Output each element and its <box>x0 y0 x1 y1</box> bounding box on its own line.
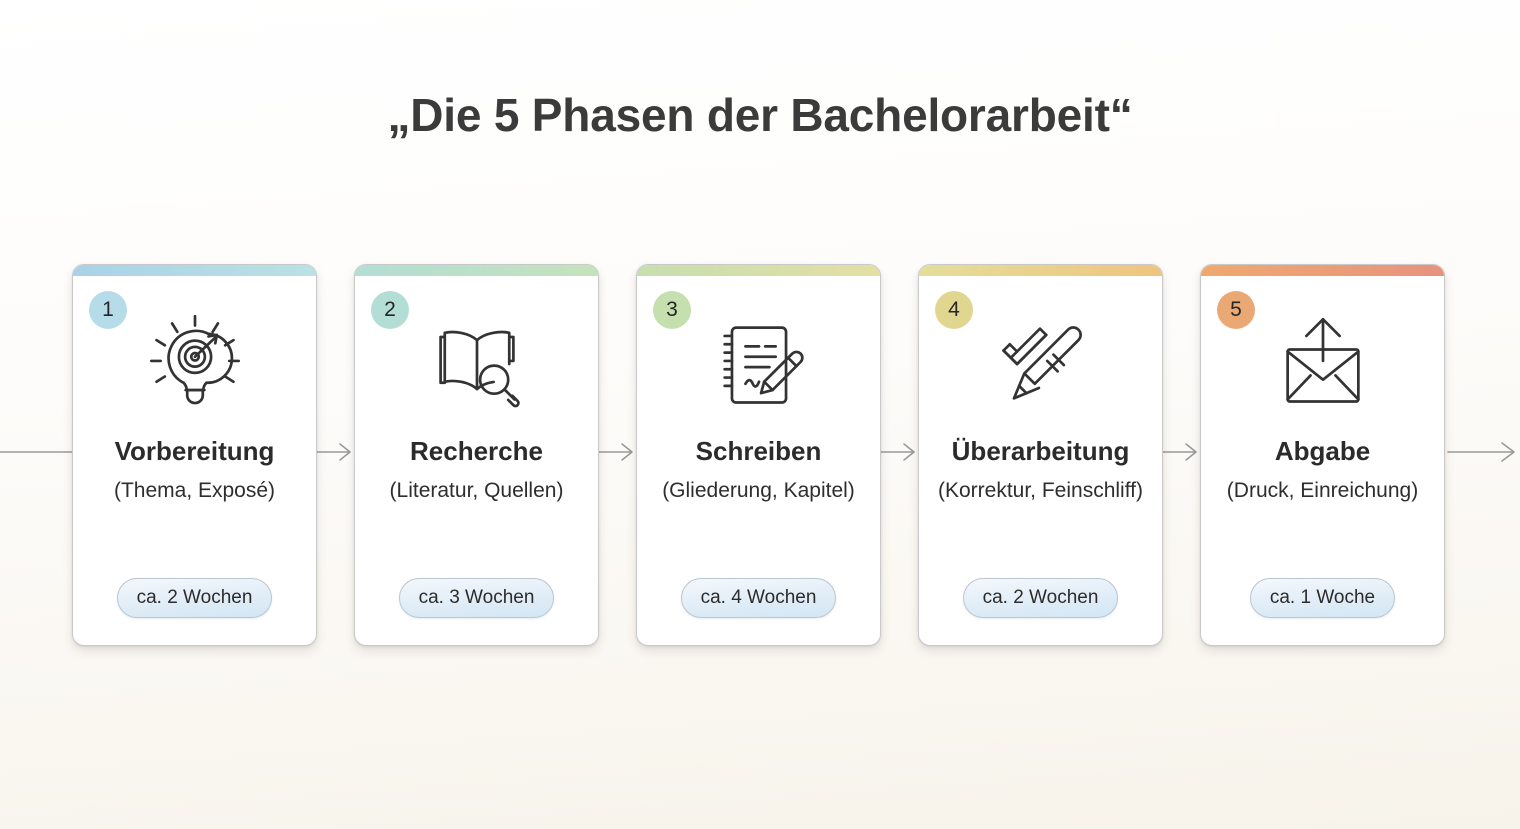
lightbulb-target-icon <box>140 311 250 415</box>
duration-badge-3: ca. 4 Wochen <box>681 578 837 618</box>
duration-wrapper-1: ca. 2 Wochen <box>117 578 273 618</box>
card-accent-bar-4 <box>919 265 1162 276</box>
envelope-upload-icon <box>1268 311 1378 415</box>
phase-card-3[interactable]: 3 Schreiben <box>636 264 881 646</box>
duration-badge-2: ca. 3 Wochen <box>399 578 555 618</box>
step-number-badge-1: 1 <box>89 291 127 329</box>
duration-wrapper-3: ca. 4 Wochen <box>681 578 837 618</box>
duration-wrapper-4: ca. 2 Wochen <box>963 578 1119 618</box>
phase-card-2[interactable]: 2 Recherche (Literatur, Quellen) <box>354 264 599 646</box>
step-number-label-3: 3 <box>666 298 678 322</box>
step-number-label-1: 1 <box>102 298 114 322</box>
card-accent-bar-1 <box>73 265 316 276</box>
duration-badge-4: ca. 2 Wochen <box>963 578 1119 618</box>
page-title: „Die 5 Phasen der Bachelorarbeit“ <box>0 88 1520 142</box>
book-magnifier-icon <box>422 311 532 415</box>
duration-wrapper-2: ca. 3 Wochen <box>399 578 555 618</box>
phase-subtitle-2: (Literatur, Quellen) <box>380 476 574 507</box>
duration-badge-5: ca. 1 Woche <box>1250 578 1395 618</box>
phase-title-3: Schreiben <box>690 437 828 466</box>
phase-subtitle-5: (Druck, Einreichung) <box>1217 476 1428 507</box>
phase-card-4[interactable]: 4 Überarbeitung (Korrektur, <box>918 264 1163 646</box>
duration-wrapper-5: ca. 1 Woche <box>1250 578 1395 618</box>
phase-title-5: Abgabe <box>1269 437 1376 466</box>
phase-subtitle-3: (Gliederung, Kapitel) <box>652 476 865 507</box>
step-number-badge-2: 2 <box>371 291 409 329</box>
pen-check-icon <box>986 311 1096 415</box>
step-number-label-2: 2 <box>384 298 396 322</box>
step-number-badge-5: 5 <box>1217 291 1255 329</box>
phase-title-2: Recherche <box>404 437 549 466</box>
phase-card-1[interactable]: 1 <box>72 264 317 646</box>
step-number-label-4: 4 <box>948 298 960 322</box>
step-number-label-5: 5 <box>1230 298 1242 322</box>
card-accent-bar-2 <box>355 265 598 276</box>
phase-card-5[interactable]: 5 Abgabe (Druck, Einreichung) ca. 1 Woch… <box>1200 264 1445 646</box>
phase-subtitle-4: (Korrektur, Feinschliff) <box>928 476 1153 507</box>
phase-title-1: Vorbereitung <box>109 437 281 466</box>
card-accent-bar-3 <box>637 265 880 276</box>
step-number-badge-3: 3 <box>653 291 691 329</box>
phase-subtitle-1: (Thema, Exposé) <box>104 476 285 507</box>
phase-title-4: Überarbeitung <box>946 437 1136 466</box>
step-number-badge-4: 4 <box>935 291 973 329</box>
card-accent-bar-5 <box>1201 265 1444 276</box>
notepad-pencil-icon <box>704 311 814 415</box>
duration-badge-1: ca. 2 Wochen <box>117 578 273 618</box>
phase-cards-row: 1 <box>72 264 1448 646</box>
